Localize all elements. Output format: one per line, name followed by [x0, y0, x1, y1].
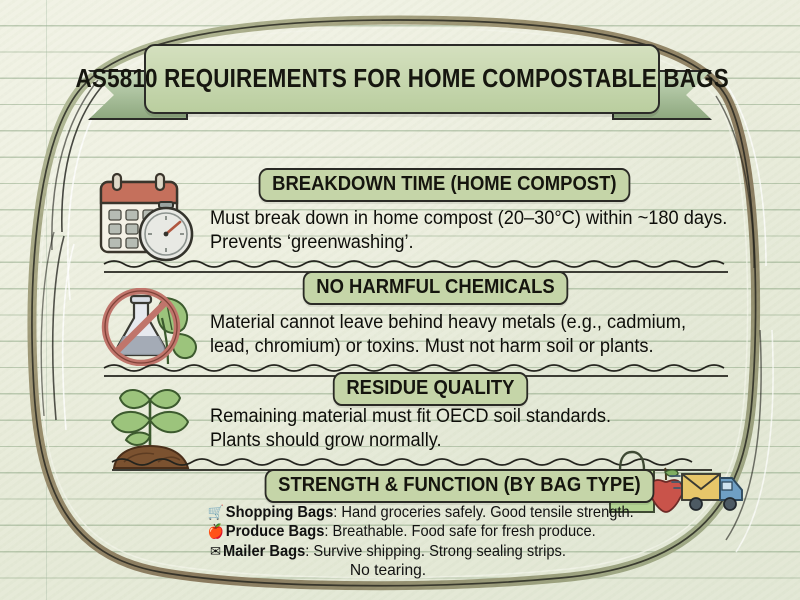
no-chemicals-icon	[96, 288, 204, 366]
section-1-line-2: Prevents ‘greenwashing’.	[210, 230, 414, 255]
infographic-poster: AS5810 REQUIREMENTS FOR HOME COMPOSTABLE…	[0, 0, 800, 600]
bullet-2-label: Mailer Bags	[223, 543, 305, 560]
title-banner: AS5810 REQUIREMENTS FOR HOME COMPOSTABLE…	[88, 44, 712, 118]
shopping-cart-icon: 🛒	[208, 504, 224, 520]
section-2-line-1: Material cannot leave behind heavy metal…	[210, 310, 686, 335]
bullet-0-label: Shopping Bags	[226, 504, 333, 521]
list-item: ✉Mailer Bags: Survive shipping. Strong s…	[208, 542, 569, 561]
section-3-line-2: Plants should grow normally.	[210, 428, 442, 453]
chip-no-harmful-chemicals: NO HARMFUL CHEMICALS	[303, 271, 568, 305]
bullet-1-label: Produce Bags	[226, 523, 325, 540]
bullet-2-text: : Survive shipping. Strong sealing strip…	[305, 543, 566, 560]
bullet-1-text: : Breathable. Food safe for fresh produc…	[324, 523, 595, 540]
page-title: AS5810 REQUIREMENTS FOR HOME COMPOSTABLE…	[75, 65, 728, 94]
chip-strength-function: STRENGTH & FUNCTION (BY BAG TYPE)	[265, 469, 655, 503]
envelope-icon: ✉	[210, 543, 221, 559]
chip-breakdown-time: BREAKDOWN TIME (HOME COMPOST)	[259, 168, 630, 202]
section-2-line-2: lead, chromium) or toxins. Must not harm…	[210, 334, 654, 359]
bag-type-list: 🛒Shopping Bags: Hand groceries safely. G…	[196, 503, 580, 581]
apple-icon: 🍎	[208, 523, 224, 539]
section-3-line-1: Remaining material must fit OECD soil st…	[210, 404, 611, 429]
bullet-0-text: : Hand groceries safely. Good tensile st…	[333, 504, 633, 521]
chip-residue-quality: RESIDUE QUALITY	[333, 372, 528, 406]
calendar-stopwatch-icon	[96, 172, 202, 264]
banner-plate: AS5810 REQUIREMENTS FOR HOME COMPOSTABLE…	[144, 44, 660, 114]
section-1-line-1: Must break down in home compost (20–30°C…	[210, 206, 727, 231]
list-item: 🛒Shopping Bags: Hand groceries safely. G…	[208, 503, 569, 522]
list-item: 🍎Produce Bags: Breathable. Food safe for…	[208, 522, 569, 541]
footer-note: No tearing.	[196, 561, 580, 580]
